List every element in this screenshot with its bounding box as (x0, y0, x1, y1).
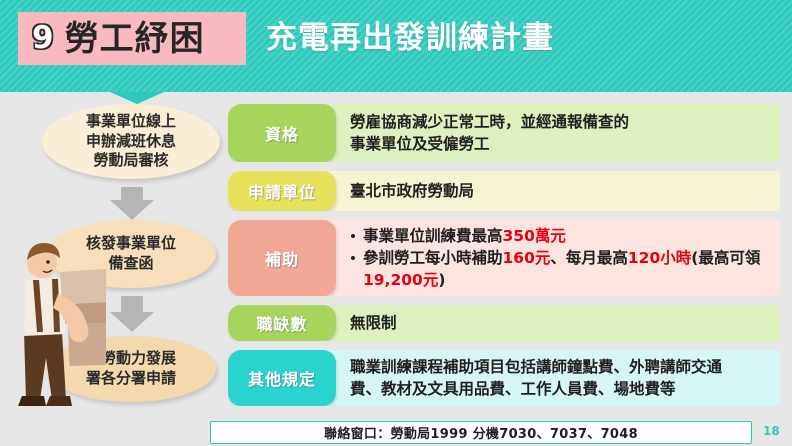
subsidy-bullet-list: 事業單位訓練費最高350萬元 參訓勞工每小時補助160元、每月最高120小時(最… (350, 225, 770, 291)
info-rows: 資格 勞雇協商減少正常工時，並經通報備查的 事業單位及受僱勞工 申請單位 臺北市… (228, 104, 780, 415)
row-label-subsidy: 補助 (228, 220, 336, 296)
row-body-vacancies: 無限制 (328, 305, 780, 341)
info-row-other-rules: 其他規定 職業訓練課程補助項目包括講師鐘點費、外聘講師交通 費、教材及文具用品費… (228, 350, 780, 406)
row-body-applicant-unit: 臺北市政府勞動局 (328, 171, 780, 211)
subsidy-bullet-1: 事業單位訓練費最高350萬元 (350, 225, 770, 247)
row-body-subsidy: 事業單位訓練費最高350萬元 參訓勞工每小時補助160元、每月最高120小時(最… (328, 220, 780, 296)
row-body-other-rules: 職業訓練課程補助項目包括講師鐘點費、外聘講師交通 費、教材及文具用品費、工作人員… (328, 350, 780, 406)
row-label-other-rules: 其他規定 (228, 350, 336, 406)
contact-text: 聯絡窗口：勞動局1999 分機7030、7037、7048 (324, 423, 638, 442)
other-rules-line-2: 費、教材及文具用品費、工作人員費、場地費等 (350, 378, 722, 400)
flow-step-1-line-3: 勞動局審核 (93, 151, 168, 171)
section-number: 9 (32, 23, 54, 54)
applicant-unit-line-1: 臺北市政府勞動局 (350, 180, 474, 202)
info-row-vacancies: 職缺數 無限制 (228, 305, 780, 341)
other-rules-line-1: 職業訓練課程補助項目包括講師鐘點費、外聘講師交通 (350, 356, 722, 378)
flow-arrow-1-head-icon (110, 200, 154, 220)
contact-footer-box: 聯絡窗口：勞動局1999 分機7030、7037、7048 (210, 421, 752, 444)
slide-header: 9 勞工紓困 充電再出發訓練計畫 (0, 0, 792, 92)
qualification-line-2: 事業單位及受僱勞工 (350, 133, 629, 155)
page-title: 充電再出發訓練計畫 (266, 16, 554, 61)
row-label-qualification: 資格 (228, 104, 336, 162)
flow-arrow-2-head-icon (110, 312, 154, 332)
slide-root: 9 勞工紓困 充電再出發訓練計畫 事業單位線上 申辦減班休息 勞動局審核 核發事… (0, 0, 792, 446)
flow-step-1-line-2: 申辦減班休息 (86, 132, 176, 152)
vacancies-line-1: 無限制 (350, 312, 397, 334)
section-title: 勞工紓困 (65, 22, 205, 56)
qualification-line-1: 勞雇協商減少正常工時，並經通報備查的 (350, 111, 629, 133)
flow-step-2-line-2: 備查函 (108, 254, 153, 274)
info-row-subsidy: 補助 事業單位訓練費最高350萬元 參訓勞工每小時補助160元、每月最高120小… (228, 220, 780, 296)
page-number: 18 (763, 424, 780, 438)
section-badge: 9 勞工紓困 (18, 12, 246, 65)
subsidy-bullet-2: 參訓勞工每小時補助160元、每月最高120小時(最高可領19,200元) (350, 247, 770, 291)
row-label-vacancies: 職缺數 (228, 305, 336, 341)
row-body-qualification: 勞雇協商減少正常工時，並經通報備查的 事業單位及受僱勞工 (328, 104, 780, 162)
flow-step-1-line-1: 事業單位線上 (86, 112, 176, 132)
worker-carrying-boxes-illustration (0, 228, 106, 414)
row-label-applicant-unit: 申請單位 (228, 171, 336, 211)
info-row-applicant-unit: 申請單位 臺北市政府勞動局 (228, 171, 780, 211)
flow-step-1: 事業單位線上 申辦減班休息 勞動局審核 (42, 104, 220, 179)
info-row-qualification: 資格 勞雇協商減少正常工時，並經通報備查的 事業單位及受僱勞工 (228, 104, 780, 162)
